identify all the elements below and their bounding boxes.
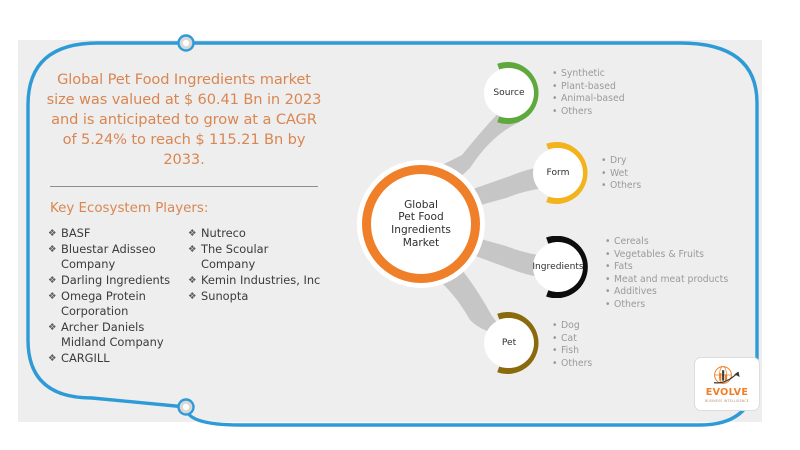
diamond-bullet-icon: ❖ bbox=[188, 289, 201, 304]
logo-name: EVOLVE bbox=[706, 388, 749, 398]
diamond-bullet-icon: ❖ bbox=[188, 273, 201, 288]
bullet-icon: • bbox=[605, 261, 614, 274]
list-item: ❖ BASF bbox=[48, 226, 184, 241]
list-item: ❖ CARGILL bbox=[48, 351, 184, 366]
node-pet[interactable]: Pet bbox=[478, 312, 540, 374]
list-item: • Additives bbox=[605, 286, 728, 299]
form-disc: Form bbox=[533, 148, 583, 198]
player-name: Sunopta bbox=[201, 289, 324, 304]
bullet-icon: • bbox=[552, 81, 561, 94]
hub-label-line: Pet Food bbox=[391, 211, 451, 224]
item-label: Others bbox=[561, 106, 592, 119]
list-item: • Others bbox=[605, 299, 728, 312]
item-label: Animal-based bbox=[561, 93, 625, 106]
diamond-bullet-icon: ❖ bbox=[48, 351, 61, 366]
globe-bar-chart-arrow-icon bbox=[710, 365, 744, 387]
list-item: • Fish bbox=[552, 345, 592, 358]
bullet-icon: • bbox=[552, 320, 561, 333]
pet-disc: Pet bbox=[484, 318, 534, 368]
diamond-bullet-icon: ❖ bbox=[48, 226, 61, 241]
diamond-bullet-icon: ❖ bbox=[48, 242, 61, 257]
list-item: • Meat and meat products bbox=[605, 274, 728, 287]
bullet-icon: • bbox=[552, 333, 561, 346]
form-item-list: • Dry • Wet • Others bbox=[601, 155, 641, 193]
item-label: Vegetables & Fruits bbox=[614, 249, 704, 262]
hub-label-line: Market bbox=[391, 237, 451, 250]
bullet-icon: • bbox=[605, 299, 614, 312]
bullet-icon: • bbox=[552, 345, 561, 358]
bullet-icon: • bbox=[552, 68, 561, 81]
player-name: CARGILL bbox=[61, 351, 184, 366]
node-label: Pet bbox=[502, 338, 516, 348]
bullet-icon: • bbox=[605, 236, 614, 249]
node-label: Source bbox=[493, 88, 524, 98]
bullet-icon: • bbox=[552, 106, 561, 119]
list-item: ❖ The Scoular Company bbox=[188, 242, 324, 272]
player-name: Bluestar Adisseo Company bbox=[61, 242, 184, 272]
ingredients-disc: Ingredients bbox=[533, 242, 583, 292]
list-item: • Wet bbox=[601, 168, 641, 181]
item-label: Fats bbox=[614, 261, 633, 274]
list-item: • Others bbox=[552, 358, 592, 371]
card-divider bbox=[50, 186, 318, 187]
node-form[interactable]: Form bbox=[527, 142, 589, 204]
players-column-right: ❖ Nutreco ❖ The Scoular Company ❖ Kemin … bbox=[188, 226, 324, 367]
item-label: Plant-based bbox=[561, 81, 616, 94]
players-columns: ❖ BASF ❖ Bluestar Adisseo Company ❖ Darl… bbox=[48, 226, 324, 367]
list-item: ❖ Nutreco bbox=[188, 226, 324, 241]
summary-card: Global Pet Food Ingredients market size … bbox=[28, 52, 340, 392]
node-ingredients[interactable]: Ingredients bbox=[527, 236, 589, 298]
infographic-canvas: Global Pet Food Ingredients market size … bbox=[0, 0, 800, 450]
item-label: Additives bbox=[614, 286, 657, 299]
source-item-list: • Synthetic • Plant-based • Animal-based… bbox=[552, 68, 625, 118]
central-hub: Global Pet Food Ingredients Market bbox=[362, 165, 480, 283]
list-item: • Cereals bbox=[605, 236, 728, 249]
hub-label-line: Global bbox=[391, 199, 451, 212]
item-label: Others bbox=[561, 358, 592, 371]
list-item: ❖ Darling Ingredients bbox=[48, 273, 184, 288]
player-name: Kemin Industries, Inc bbox=[201, 273, 324, 288]
diamond-bullet-icon: ❖ bbox=[48, 273, 61, 288]
bullet-icon: • bbox=[552, 93, 561, 106]
diamond-bullet-icon: ❖ bbox=[48, 320, 61, 335]
list-item: ❖ Omega Protein Corporation bbox=[48, 289, 184, 319]
players-column-left: ❖ BASF ❖ Bluestar Adisseo Company ❖ Darl… bbox=[48, 226, 184, 367]
item-label: Cat bbox=[561, 333, 577, 346]
item-label: Synthetic bbox=[561, 68, 605, 81]
item-label: Meat and meat products bbox=[614, 274, 728, 287]
brand-logo[interactable]: EVOLVE BUSINESS INTELLIGENCE bbox=[694, 357, 760, 411]
player-name: The Scoular Company bbox=[201, 242, 324, 272]
bullet-icon: • bbox=[605, 249, 614, 262]
item-label: Dog bbox=[561, 320, 580, 333]
list-item: • Others bbox=[601, 180, 641, 193]
bullet-icon: • bbox=[601, 155, 610, 168]
bullet-icon: • bbox=[605, 286, 614, 299]
list-item: ❖ Archer Daniels Midland Company bbox=[48, 320, 184, 350]
item-label: Fish bbox=[561, 345, 579, 358]
item-label: Others bbox=[610, 180, 641, 193]
ingredients-item-list: • Cereals • Vegetables & Fruits • Fats •… bbox=[605, 236, 728, 312]
hub-label-line: Ingredients bbox=[391, 224, 451, 237]
item-label: Dry bbox=[610, 155, 626, 168]
diamond-bullet-icon: ❖ bbox=[188, 226, 201, 241]
hub-label: Global Pet Food Ingredients Market bbox=[387, 199, 455, 249]
bullet-icon: • bbox=[601, 168, 610, 181]
bullet-icon: • bbox=[601, 180, 610, 193]
bullet-icon: • bbox=[605, 274, 614, 287]
item-label: Cereals bbox=[614, 236, 649, 249]
player-name: Darling Ingredients bbox=[61, 273, 184, 288]
list-item: • Animal-based bbox=[552, 93, 625, 106]
list-item: • Cat bbox=[552, 333, 592, 346]
node-source[interactable]: Source bbox=[478, 62, 540, 124]
list-item: • Fats bbox=[605, 261, 728, 274]
players-title: Key Ecosystem Players: bbox=[50, 201, 324, 216]
diamond-bullet-icon: ❖ bbox=[48, 289, 61, 304]
list-item: • Plant-based bbox=[552, 81, 625, 94]
node-label: Ingredients bbox=[532, 262, 583, 272]
list-item: • Vegetables & Fruits bbox=[605, 249, 728, 262]
player-name: BASF bbox=[61, 226, 184, 241]
list-item: • Dog bbox=[552, 320, 592, 333]
item-label: Wet bbox=[610, 168, 628, 181]
list-item: ❖ Sunopta bbox=[188, 289, 324, 304]
pet-item-list: • Dog • Cat • Fish • Others bbox=[552, 320, 592, 370]
player-name: Omega Protein Corporation bbox=[61, 289, 184, 319]
list-item: ❖ Kemin Industries, Inc bbox=[188, 273, 324, 288]
list-item: • Synthetic bbox=[552, 68, 625, 81]
list-item: ❖ Bluestar Adisseo Company bbox=[48, 242, 184, 272]
logo-subtitle: BUSINESS INTELLIGENCE bbox=[705, 399, 749, 403]
node-label: Form bbox=[547, 168, 570, 178]
source-disc: Source bbox=[484, 68, 534, 118]
diamond-bullet-icon: ❖ bbox=[188, 242, 201, 257]
bullet-icon: • bbox=[552, 358, 561, 371]
list-item: • Dry bbox=[601, 155, 641, 168]
list-item: • Others bbox=[552, 106, 625, 119]
item-label: Others bbox=[614, 299, 645, 312]
headline-text: Global Pet Food Ingredients market size … bbox=[44, 70, 324, 170]
player-name: Nutreco bbox=[201, 226, 324, 241]
player-name: Archer Daniels Midland Company bbox=[61, 320, 184, 350]
